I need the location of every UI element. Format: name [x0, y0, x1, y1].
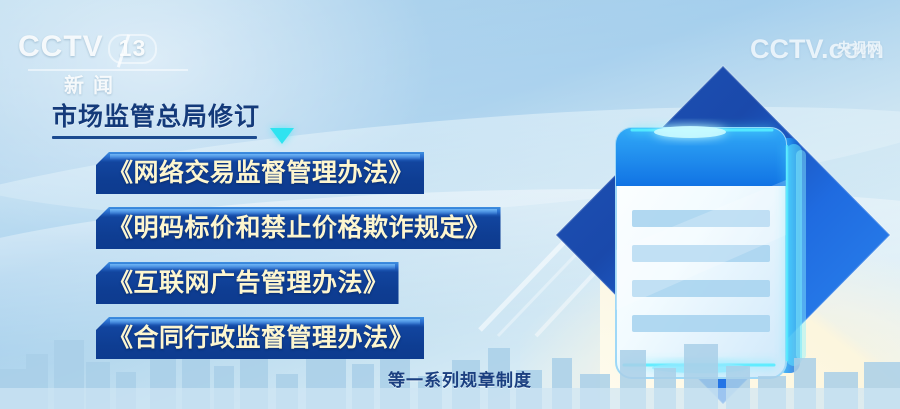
- list-item: 《明码标价和禁止价格欺诈规定》: [96, 207, 501, 249]
- list-item-label: 《互联网广告管理办法》: [96, 262, 399, 304]
- broadcast-graphic-screen: CCTV13 新闻 CCTV.com 央视网 市场监管总局修订 《网络交易监督管…: [0, 0, 900, 409]
- regulation-list: 《网络交易监督管理办法》 《明码标价和禁止价格欺诈规定》 《互联网广告管理办法》…: [96, 152, 501, 372]
- watermark-latin-text: CCTV.com: [704, 36, 884, 63]
- list-item-label: 《合同行政监督管理办法》: [96, 317, 424, 359]
- page-title: 市场监管总局修订: [52, 104, 260, 132]
- headline-block: 市场监管总局修订: [52, 104, 260, 139]
- headline-underline: [52, 136, 257, 139]
- list-item: 《网络交易监督管理办法》: [96, 152, 501, 194]
- list-item: 《合同行政监督管理办法》: [96, 317, 501, 359]
- list-item-label: 《网络交易监督管理办法》: [96, 152, 424, 194]
- list-item: 《互联网广告管理办法》: [96, 262, 501, 304]
- triangle-down-icon: [270, 128, 294, 144]
- watermark-chinese-text: 央视网: [837, 38, 882, 58]
- list-item-label: 《明码标价和禁止价格欺诈规定》: [96, 207, 501, 249]
- footer-note: 等一系列规章制度: [388, 366, 532, 391]
